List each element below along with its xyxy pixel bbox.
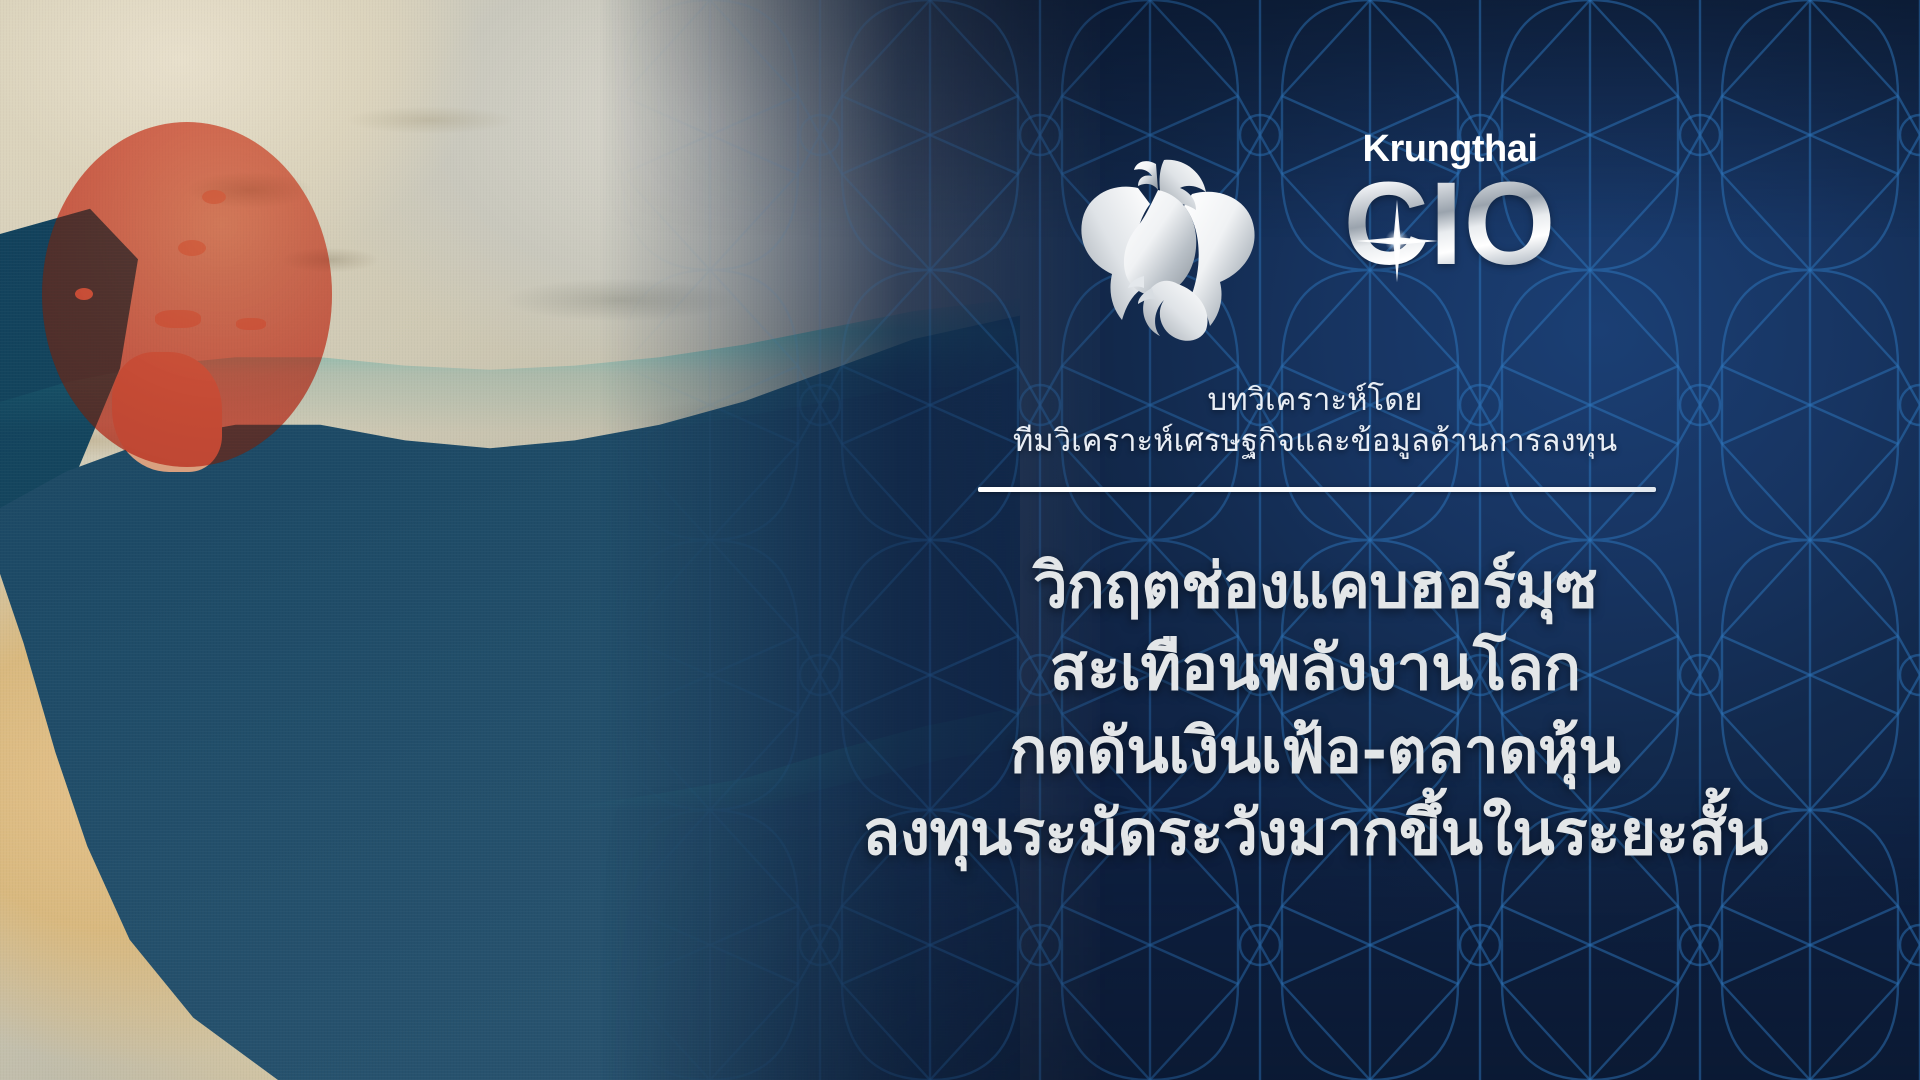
headline: วิกฤตช่องแคบฮอร์มุซ สะเทือนพลังงานโลก กด… <box>690 545 1920 875</box>
krungthai-phoenix-logo-icon <box>1060 142 1270 342</box>
analysis-byline: บทวิเคราะห์โดย ทีมวิเคราะห์เศรษฐกิจและข้… <box>905 380 1725 462</box>
headline-line-3: กดดันเงินเฟ้อ-ตลาดหุ้น <box>690 710 1920 792</box>
headline-line-1: วิกฤตช่องแคบฮอร์มุซ <box>690 545 1920 627</box>
brand-lockup: Krungthai CIO <box>1280 130 1620 279</box>
brand-product-cio: CIO <box>1280 170 1620 279</box>
headline-line-4: ลงทุนระมัดระวังมากขึ้นในระยะสั้น <box>690 792 1920 874</box>
byline-line-2: ทีมวิเคราะห์เศรษฐกิจและข้อมูลด้านการลงทุ… <box>905 421 1725 462</box>
headline-line-2: สะเทือนพลังงานโลก <box>690 627 1920 709</box>
strait-of-hormuz-highlight-tint <box>42 122 332 467</box>
header-divider-line <box>978 487 1656 492</box>
byline-line-1: บทวิเคราะห์โดย <box>905 380 1725 421</box>
poster-canvas: Krungthai CIO บทวิเคราะห์โดย ทีมวิเคราะห… <box>0 0 1920 1080</box>
